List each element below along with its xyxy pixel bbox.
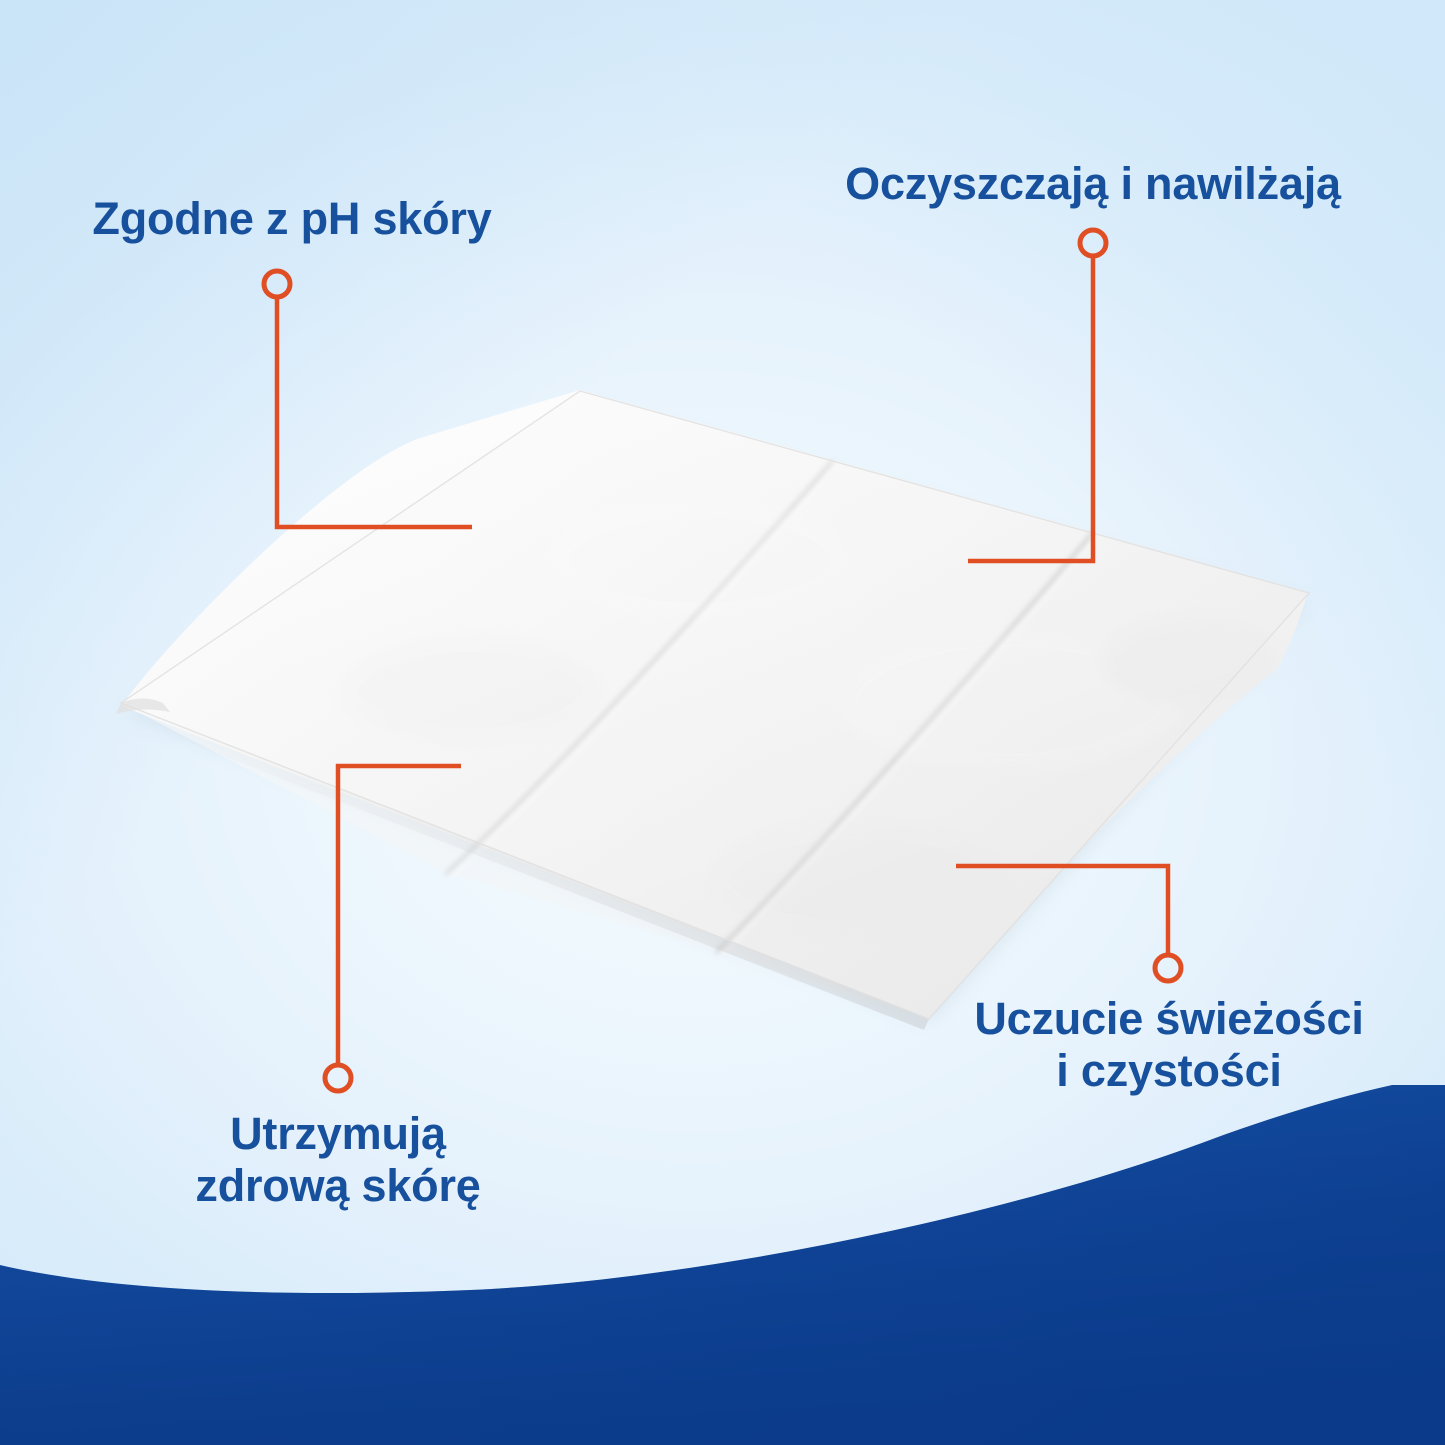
connector-line-fresh-clean (956, 866, 1168, 955)
wave-shade-overlay (0, 1085, 1445, 1445)
callout-marker-cleanse-moisturize (1080, 230, 1106, 256)
callout-marker-ph-balanced (264, 271, 290, 297)
callout-marker-fresh-clean (1155, 955, 1181, 981)
connector-line-cleanse-moisturize (968, 256, 1093, 561)
connector-line-ph-balanced (277, 297, 472, 527)
product-benefits-infographic: Zgodne z pH skóry Oczyszczają i nawilżaj… (0, 0, 1445, 1445)
bottom-wave-decoration (0, 1085, 1445, 1445)
callout-label-fresh-clean: Uczucie świeżości i czystości (930, 993, 1408, 1097)
callout-label-cleanse-moisturize: Oczyszczają i nawilżają (770, 158, 1416, 210)
connector-line-healthy-skin (338, 766, 461, 1065)
callout-label-ph-balanced: Zgodne z pH skóry (0, 193, 584, 245)
